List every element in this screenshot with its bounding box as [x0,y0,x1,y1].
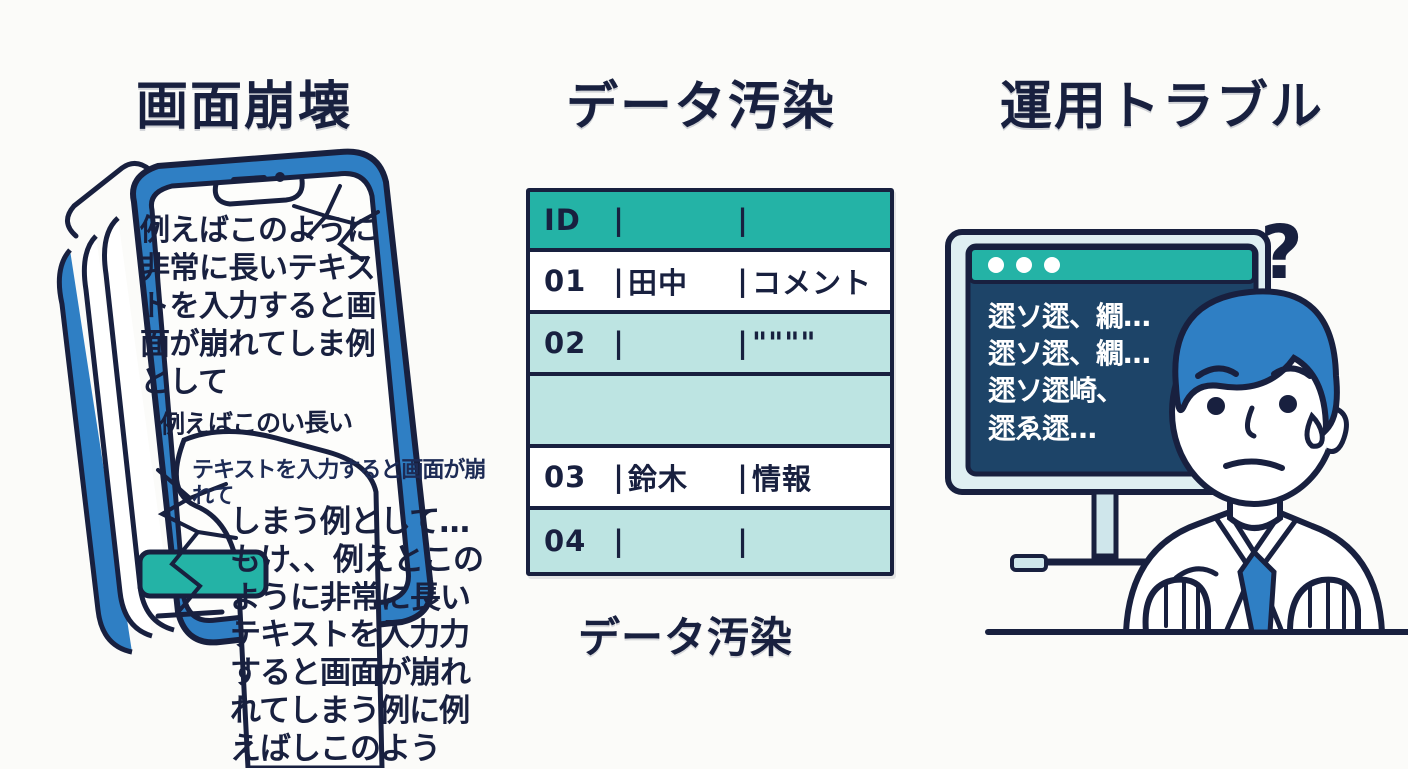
row-cell-note: コメント [752,260,872,302]
table-row[interactable]: 03 | 鈴木 | 情報 [530,448,890,510]
row-cell-name: 鈴木 [628,456,734,498]
window-dot-icon [1044,257,1060,273]
row-separator: | [610,326,628,360]
row-separator: | [610,460,628,494]
row-separator-2: | [734,264,752,298]
mojibake-line: 遝ゑ遝… [988,410,1238,447]
table-row[interactable]: 04 | | [530,510,890,572]
row-separator-2: | [734,326,752,360]
row-cell-name: 田中 [628,260,734,302]
phone-overflow-text-a: 例えばこのい長い [160,406,490,440]
mojibake-line: 遝ソ遝、繝… [988,298,1238,335]
row-cell-id: 02 [544,326,610,360]
illustration-canvas: 画面崩壊 データ汚染 運用トラブル [0,0,1408,768]
question-mark-icon: ? [1260,210,1303,296]
header-separator: | [610,203,628,237]
row-cell-id: 04 [544,524,610,558]
monitor-stand-foot [1012,556,1046,570]
window-title-bar [970,248,1254,282]
broken-phone-illustration: 例えばこのように非常に長いテキストを入力すると画面が崩れてしま例として 例えばこ… [40,140,510,768]
mojibake-line: 遝ソ遝崎、 [988,372,1238,409]
window-dot-icon [988,257,1004,273]
monitor-stand-neck [1094,492,1116,556]
table-row-empty[interactable] [530,376,890,448]
operations-trouble-illustration: 遝ソ遝、繝… 遝ソ遝、繝… 遝ソ遝崎、 遝ゑ遝… ? [930,180,1408,680]
data-corruption-table: ID | | 01 | 田中 | コメント 02 | | """" 03 | [526,188,894,576]
phone-camera-icon [275,172,285,182]
table-row[interactable]: 01 | 田中 | コメント [530,252,890,314]
phone-screen-text: 例えばこのように非常に長いテキストを入力すると画面が崩れてしま例として [140,212,376,402]
row-cell-id: 03 [544,460,610,494]
section-heading-data-corruption: データ汚染 [566,64,836,139]
person-eye-right [1279,395,1297,413]
row-cell-note: """" [752,326,816,360]
table-row[interactable]: 02 | | """" [530,314,890,376]
row-cell-id: 01 [544,264,610,298]
window-dot-icon [1016,257,1032,273]
row-cell-note: 情報 [752,456,812,498]
table-header-row: ID | | [530,192,890,252]
row-separator-2: | [734,460,752,494]
header-separator-2: | [734,203,752,237]
phone-overflow-text-b: テキストを入力すると画面が崩れて [192,458,492,511]
section-heading-screen-breakage: 画面崩壊 [136,64,352,139]
phone-speaker-icon [234,178,264,180]
header-cell-id: ID [544,203,610,237]
table-caption: データ汚染 [578,604,793,665]
phone-overflow-text-c: しまう例として…もけ、、例えとこのように非常に長いテキストを入力力すると画面が崩… [230,504,492,769]
section-heading-operations-trouble: 運用トラブル [1000,64,1324,139]
row-separator: | [610,524,628,558]
mojibake-line: 遝ソ遝、繝… [988,335,1238,372]
row-separator-2: | [734,524,752,558]
row-separator: | [610,264,628,298]
mojibake-text-block: 遝ソ遝、繝… 遝ソ遝、繝… 遝ソ遝崎、 遝ゑ遝… [988,298,1238,447]
